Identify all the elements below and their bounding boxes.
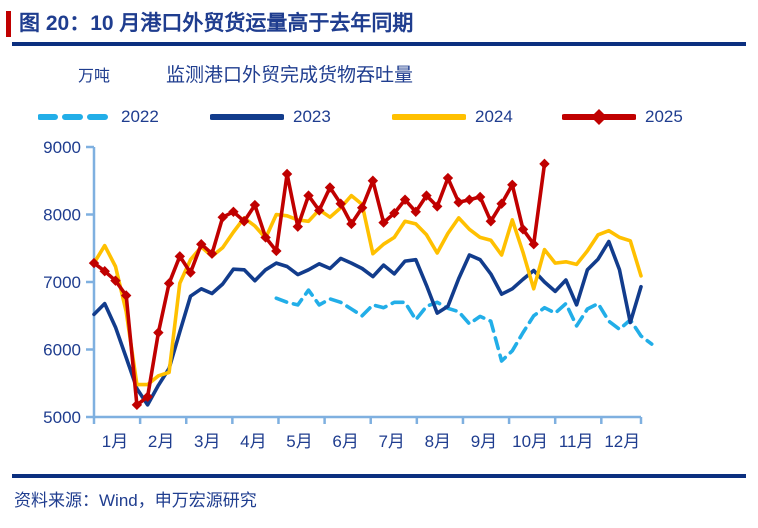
legend-swatch-solid-icon: [210, 106, 284, 128]
y-axis-tick-label: 8000: [43, 206, 81, 225]
x-axis-tick-label: 11月: [559, 432, 594, 451]
legend-label-2024: 2024: [475, 106, 513, 128]
figure-container: 图 20：10 月港口外贸货运量高于去年同期 万吨 监测港口外贸完成货物吞吐量 …: [0, 0, 758, 528]
y-axis-tick-label: 7000: [43, 273, 81, 292]
chart-subtitle: 监测港口外贸完成货物吞吐量: [166, 60, 413, 87]
series-marker-2025: [164, 278, 174, 288]
x-axis-tick-label: 10月: [512, 432, 548, 451]
legend-label-2022: 2022: [121, 106, 159, 128]
line-chart-svg: 500060007000800090001月2月3月4月5月6月7月8月9月10…: [0, 130, 758, 470]
page-title: 图 20：10 月港口外贸货运量高于去年同期: [19, 11, 413, 37]
y-axis-tick-label: 6000: [43, 341, 81, 360]
legend-item-2023[interactable]: 2023: [210, 104, 331, 130]
chart-legend: 2022 2023 2024: [38, 104, 718, 130]
x-axis-tick-label: 7月: [378, 432, 404, 451]
title-divider-top: [12, 42, 746, 46]
series-marker-2025: [443, 173, 453, 183]
legend-item-2025[interactable]: 2025: [562, 104, 683, 130]
x-axis-tick-label: 12月: [604, 432, 640, 451]
x-axis-tick-label: 9月: [471, 432, 497, 451]
x-axis-tick-label: 5月: [286, 432, 312, 451]
series-marker-2025: [368, 176, 378, 186]
series-line-2022: [276, 290, 651, 361]
series-marker-2025: [153, 327, 163, 337]
source-note: 资料来源：Wind，申万宏源研究: [14, 486, 257, 511]
y-axis-tick-label: 5000: [43, 408, 81, 427]
x-axis-tick-label: 1月: [102, 432, 128, 451]
legend-swatch-dashed-icon: [38, 106, 112, 128]
series-marker-2025: [293, 221, 303, 231]
y-axis-unit-label: 万吨: [78, 62, 110, 86]
legend-swatch-diamond-icon: [562, 106, 636, 128]
legend-label-2023: 2023: [293, 106, 331, 128]
series-marker-2025: [475, 192, 485, 202]
legend-swatch-solid-icon: [392, 106, 466, 128]
legend-label-2025: 2025: [645, 106, 683, 128]
series-line-2024: [94, 196, 641, 385]
x-axis-tick-label: 8月: [425, 432, 451, 451]
title-accent-bar: [6, 11, 11, 37]
series-marker-2025: [464, 194, 474, 204]
x-axis-tick-label: 3月: [194, 432, 220, 451]
x-axis-tick-label: 4月: [240, 432, 266, 451]
chart-plot-area: 500060007000800090001月2月3月4月5月6月7月8月9月10…: [0, 130, 758, 470]
y-axis-tick-label: 9000: [43, 138, 81, 157]
series-line-2025: [94, 164, 545, 405]
legend-item-2022[interactable]: 2022: [38, 104, 159, 130]
legend-item-2024[interactable]: 2024: [392, 104, 513, 130]
x-axis-tick-label: 6月: [332, 432, 358, 451]
figure-title-row: 图 20：10 月港口外贸货运量高于去年同期: [0, 8, 758, 40]
x-axis-tick-label: 2月: [148, 432, 174, 451]
series-marker-2025: [282, 169, 292, 179]
series-marker-2025: [539, 159, 549, 169]
source-divider-bottom: [12, 474, 746, 478]
series-marker-2025: [453, 197, 463, 207]
